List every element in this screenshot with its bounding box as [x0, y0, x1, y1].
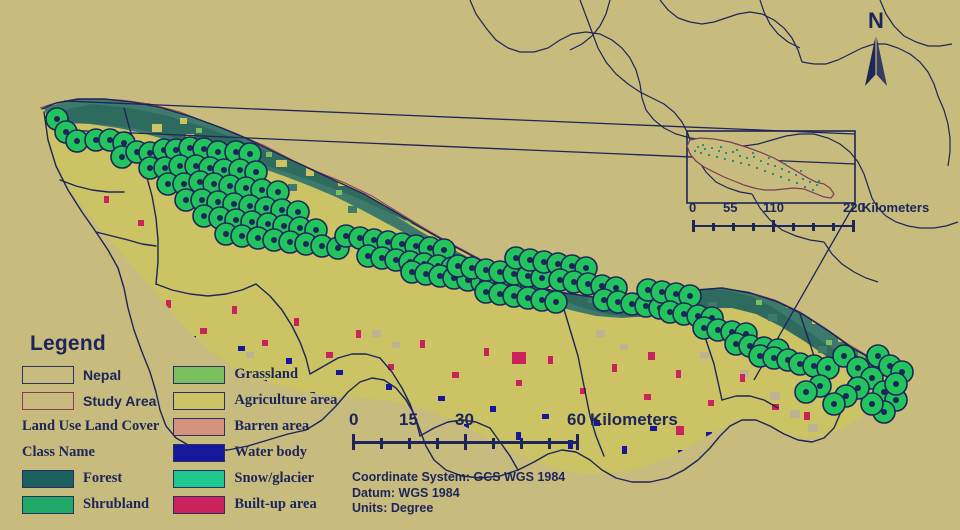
coordinate-system-credits: Coordinate System: GCS WGS 1984 Datum: W… — [352, 470, 565, 517]
legend-item-label: Grassland — [234, 366, 298, 383]
scalebar-tick — [812, 223, 815, 231]
legend-item-label: Agriculture area — [234, 392, 337, 409]
credits-line-2: Datum: WGS 1984 — [352, 486, 565, 502]
legend-item-label: Forest — [83, 470, 122, 487]
legend-item-built-up-area: Built-up area — [173, 493, 337, 516]
scalebar-label: 0 — [689, 200, 696, 215]
inset-nepal-outline — [687, 138, 834, 198]
main-scalebar-bar — [352, 434, 652, 450]
legend-swatch — [173, 496, 225, 514]
main-scalebar: 0153060Kilometers — [352, 410, 652, 450]
north-arrow: N — [852, 8, 900, 92]
legend-item-water-body: Water body — [173, 441, 337, 464]
legend-swatch — [22, 470, 74, 488]
legend-item-label: Barren area — [234, 418, 309, 435]
scalebar-tick — [492, 438, 495, 449]
legend-item-barren-area: Barren area — [173, 415, 337, 438]
scalebar-tick — [692, 220, 695, 232]
scalebar-label: 55 — [723, 200, 737, 215]
legend-swatch — [173, 418, 225, 436]
main-scalebar-labels: 0153060Kilometers — [352, 410, 652, 432]
scalebar-tick — [732, 223, 735, 231]
legend-swatch — [173, 444, 225, 462]
scalebar-label: 110 — [763, 200, 784, 215]
legend-item-label: Water body — [234, 444, 307, 461]
scalebar-label: 60 — [567, 410, 586, 430]
scalebar-tick — [380, 438, 383, 449]
scalebar-tick — [752, 223, 755, 231]
north-arrow-label: N — [852, 8, 900, 34]
scalebar-tick — [548, 438, 551, 449]
scalebar-unit: Kilometers — [590, 410, 678, 430]
legend-item-label: Snow/glacier — [234, 470, 314, 487]
legend-item-snow-glacier: Snow/glacier — [173, 467, 337, 490]
legend-item-label: Built-up area — [234, 496, 316, 513]
legend-column-left: NepalStudy AreaLand Use Land CoverClass … — [22, 363, 159, 516]
legend-heading-classname: Class Name — [22, 441, 159, 464]
scalebar-tick — [852, 220, 855, 232]
legend-title: Legend — [30, 332, 352, 356]
scalebar-tick — [436, 438, 439, 449]
legend-swatch — [173, 470, 225, 488]
scalebar-tick — [772, 220, 775, 232]
scalebar-tick — [832, 223, 835, 231]
legend-swatch — [173, 366, 225, 384]
legend-swatch — [22, 392, 74, 410]
legend-item-forest: Forest — [22, 467, 159, 490]
credits-line-1: Coordinate System: GCS WGS 1984 — [352, 470, 565, 486]
legend-item-nepal: Nepal — [22, 363, 159, 386]
legend-swatch — [22, 496, 74, 514]
legend-heading-landcover: Land Use Land Cover — [22, 415, 159, 438]
scalebar-tick — [576, 434, 579, 450]
scalebar-tick — [712, 223, 715, 231]
legend-item-label: Nepal — [83, 367, 121, 383]
scalebar-tick — [520, 438, 523, 449]
legend-item-label: Study Area — [83, 393, 156, 409]
inset-scalebar-bar — [692, 219, 892, 232]
scalebar-tick — [792, 223, 795, 231]
legend-column-right: GrasslandAgriculture areaBarren areaWate… — [173, 363, 337, 516]
legend-swatch — [173, 392, 225, 410]
legend-item-grassland: Grassland — [173, 363, 337, 386]
legend-item-study-area: Study Area — [22, 389, 159, 412]
credits-line-3: Units: Degree — [352, 501, 565, 517]
legend-item-label: Shrubland — [83, 496, 149, 513]
inset-scalebar: 055110220Kilometers — [692, 200, 892, 232]
legend: Legend NepalStudy AreaLand Use Land Cove… — [22, 332, 352, 516]
legend-item-agriculture-area: Agriculture area — [173, 389, 337, 412]
scalebar-unit: Kilometers — [862, 200, 929, 215]
map-canvas: N 055110220Kilometers 0153060Kilometers … — [0, 0, 960, 530]
scalebar-tick — [352, 434, 355, 450]
inset-scalebar-labels: 055110220Kilometers — [692, 200, 892, 217]
legend-item-shrubland: Shrubland — [22, 493, 159, 516]
scalebar-tick — [408, 438, 411, 449]
scalebar-tick — [464, 434, 467, 450]
legend-swatch — [22, 366, 74, 384]
scalebar-label: 30 — [455, 410, 474, 430]
scalebar-label: 15 — [399, 410, 418, 430]
